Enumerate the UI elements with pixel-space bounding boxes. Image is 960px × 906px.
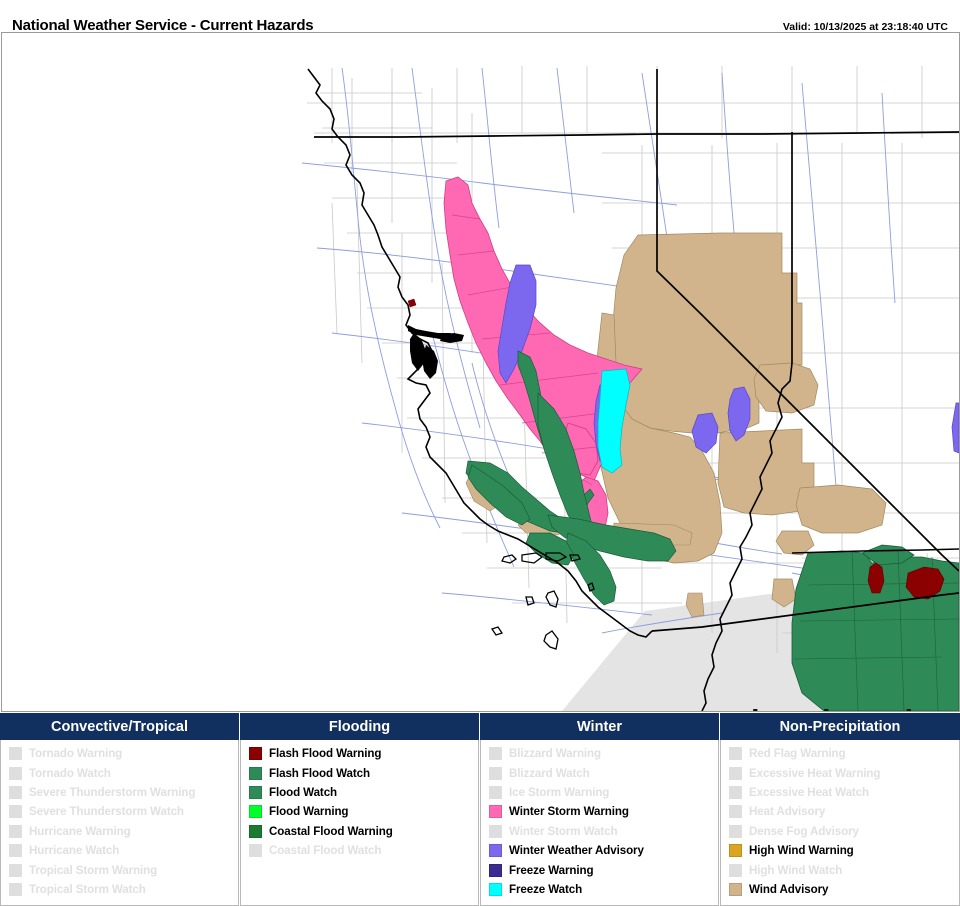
legend-color-swatch bbox=[729, 747, 742, 760]
hazard-map[interactable]: www.pivotalweather.com piv bbox=[1, 32, 960, 712]
legend-items: Tornado WarningTornado WatchSevere Thund… bbox=[9, 744, 234, 899]
legend-item-label: Winter Storm Watch bbox=[509, 825, 617, 838]
legend-item-label: Hurricane Watch bbox=[29, 844, 119, 857]
legend-color-swatch bbox=[489, 805, 502, 818]
legend-item[interactable]: Red Flag Warning bbox=[729, 744, 955, 763]
legend-item-label: Flash Flood Watch bbox=[269, 767, 370, 780]
legend-column-title: Winter bbox=[480, 713, 719, 740]
legend-color-swatch bbox=[9, 805, 22, 818]
legend-item[interactable]: Tropical Storm Watch bbox=[9, 880, 234, 899]
page-header: National Weather Service - Current Hazar… bbox=[0, 0, 960, 32]
legend-item-label: Dense Fog Advisory bbox=[749, 825, 859, 838]
legend-color-swatch bbox=[9, 786, 22, 799]
legend-color-swatch bbox=[9, 747, 22, 760]
legend-color-swatch bbox=[729, 767, 742, 780]
legend-item-label: Coastal Flood Watch bbox=[269, 844, 381, 857]
legend-item[interactable]: Dense Fog Advisory bbox=[729, 822, 955, 841]
legend-color-swatch bbox=[9, 825, 22, 838]
legend-item-label: Severe Thunderstorm Watch bbox=[29, 805, 184, 818]
legend-column-non-precipitation: Non-Precipitation Red Flag WarningExcess… bbox=[720, 714, 960, 906]
pivotal-weather-watermark: piv ta bbox=[733, 703, 951, 712]
legend-color-swatch bbox=[249, 805, 262, 818]
legend-item-label: Tornado Watch bbox=[29, 767, 111, 780]
legend-item-label: Hurricane Warning bbox=[29, 825, 131, 838]
legend-color-swatch bbox=[489, 825, 502, 838]
legend-item-label: Wind Advisory bbox=[749, 883, 828, 896]
legend-item[interactable]: Hurricane Watch bbox=[9, 841, 234, 860]
legend-item[interactable]: Tropical Storm Warning bbox=[9, 860, 234, 879]
legend-column-title: Non-Precipitation bbox=[720, 713, 960, 740]
legend-item[interactable]: Winter Weather Advisory bbox=[489, 841, 714, 860]
legend-item[interactable]: High Wind Watch bbox=[729, 860, 955, 879]
legend-item[interactable]: Blizzard Watch bbox=[489, 763, 714, 782]
legend-item-label: High Wind Watch bbox=[749, 864, 842, 877]
legend-item[interactable]: Heat Advisory bbox=[729, 802, 955, 821]
watermark-text-pre: piv bbox=[733, 703, 776, 712]
legend-color-swatch bbox=[249, 747, 262, 760]
legend-column-title: Convective/Tropical bbox=[0, 713, 239, 740]
legend-item[interactable]: High Wind Warning bbox=[729, 841, 955, 860]
legend-item[interactable]: Wind Advisory bbox=[729, 880, 955, 899]
legend-color-swatch bbox=[249, 825, 262, 838]
legend-item-label: High Wind Warning bbox=[749, 844, 854, 857]
legend-column-flooding: Flooding Flash Flood WarningFlash Flood … bbox=[240, 714, 479, 906]
legend-item-label: Winter Weather Advisory bbox=[509, 844, 644, 857]
legend-item[interactable]: Tornado Warning bbox=[9, 744, 234, 763]
legend-item[interactable]: Winter Storm Watch bbox=[489, 822, 714, 841]
legend-item-label: Blizzard Watch bbox=[509, 767, 590, 780]
watermark-text-post: tal weather bbox=[796, 703, 951, 712]
legend-item[interactable]: Ice Storm Warning bbox=[489, 783, 714, 802]
legend-item[interactable]: Winter Storm Warning bbox=[489, 802, 714, 821]
legend-item[interactable]: Severe Thunderstorm Watch bbox=[9, 802, 234, 821]
legend-item-label: Tornado Warning bbox=[29, 747, 122, 760]
legend-item-label: Winter Storm Warning bbox=[509, 805, 629, 818]
legend-item-label: Flood Watch bbox=[269, 786, 337, 799]
legend-item[interactable]: Blizzard Warning bbox=[489, 744, 714, 763]
legend-color-swatch bbox=[9, 883, 22, 896]
legend-color-swatch bbox=[729, 805, 742, 818]
legend-color-swatch bbox=[489, 747, 502, 760]
legend-color-swatch bbox=[9, 844, 22, 857]
legend-item-label: Ice Storm Warning bbox=[509, 786, 609, 799]
legend-item-label: Flash Flood Warning bbox=[269, 747, 381, 760]
legend-item[interactable]: Severe Thunderstorm Warning bbox=[9, 783, 234, 802]
legend-color-swatch bbox=[489, 786, 502, 799]
legend-item-label: Tropical Storm Warning bbox=[29, 864, 157, 877]
legend-item[interactable]: Coastal Flood Warning bbox=[249, 822, 474, 841]
legend-item[interactable]: Hurricane Warning bbox=[9, 822, 234, 841]
legend-color-swatch bbox=[729, 825, 742, 838]
legend-item[interactable]: Flood Warning bbox=[249, 802, 474, 821]
legend-item-label: Severe Thunderstorm Warning bbox=[29, 786, 195, 799]
legend-item[interactable]: Freeze Watch bbox=[489, 880, 714, 899]
legend-items: Red Flag WarningExcessive Heat WarningEx… bbox=[729, 744, 955, 899]
legend-column-title: Flooding bbox=[240, 713, 479, 740]
legend-column-winter: Winter Blizzard WarningBlizzard WatchIce… bbox=[480, 714, 719, 906]
legend-item-label: Blizzard Warning bbox=[509, 747, 601, 760]
map-canvas bbox=[2, 33, 959, 711]
legend-item-label: Tropical Storm Watch bbox=[29, 883, 146, 896]
legend-item[interactable]: Excessive Heat Warning bbox=[729, 763, 955, 782]
legend-item[interactable]: Freeze Warning bbox=[489, 860, 714, 879]
legend-item[interactable]: Flash Flood Watch bbox=[249, 763, 474, 782]
legend-color-swatch bbox=[9, 767, 22, 780]
legend-item[interactable]: Flood Watch bbox=[249, 783, 474, 802]
legend-item-label: Coastal Flood Warning bbox=[269, 825, 393, 838]
legend-item-label: Excessive Heat Warning bbox=[749, 767, 880, 780]
legend-item-label: Excessive Heat Watch bbox=[749, 786, 869, 799]
legend-color-swatch bbox=[729, 864, 742, 877]
legend-items: Flash Flood WarningFlash Flood WatchFloo… bbox=[249, 744, 474, 860]
legend-color-swatch bbox=[729, 883, 742, 896]
legend-color-swatch bbox=[489, 864, 502, 877]
legend-color-swatch bbox=[729, 844, 742, 857]
legend-color-swatch bbox=[489, 767, 502, 780]
legend-item-label: Red Flag Warning bbox=[749, 747, 846, 760]
legend-item-label: Flood Warning bbox=[269, 805, 348, 818]
legend-color-swatch bbox=[489, 883, 502, 896]
legend-item[interactable]: Flash Flood Warning bbox=[249, 744, 474, 763]
legend-item-label: Freeze Warning bbox=[509, 864, 594, 877]
legend-color-swatch bbox=[249, 786, 262, 799]
legend-item-label: Heat Advisory bbox=[749, 805, 825, 818]
legend-item-label: Freeze Watch bbox=[509, 883, 582, 896]
legend-items: Blizzard WarningBlizzard WatchIce Storm … bbox=[489, 744, 714, 899]
legend-item[interactable]: Coastal Flood Watch bbox=[249, 841, 474, 860]
legend-color-swatch bbox=[249, 767, 262, 780]
legend-item[interactable]: Tornado Watch bbox=[9, 763, 234, 782]
legend-color-swatch bbox=[729, 786, 742, 799]
hazard-legend: Convective/Tropical Tornado WarningTorna… bbox=[0, 714, 960, 906]
legend-color-swatch bbox=[9, 864, 22, 877]
legend-color-swatch bbox=[489, 844, 502, 857]
legend-color-swatch bbox=[249, 844, 262, 857]
legend-item[interactable]: Excessive Heat Watch bbox=[729, 783, 955, 802]
legend-column-convective-tropical: Convective/Tropical Tornado WarningTorna… bbox=[0, 714, 239, 906]
